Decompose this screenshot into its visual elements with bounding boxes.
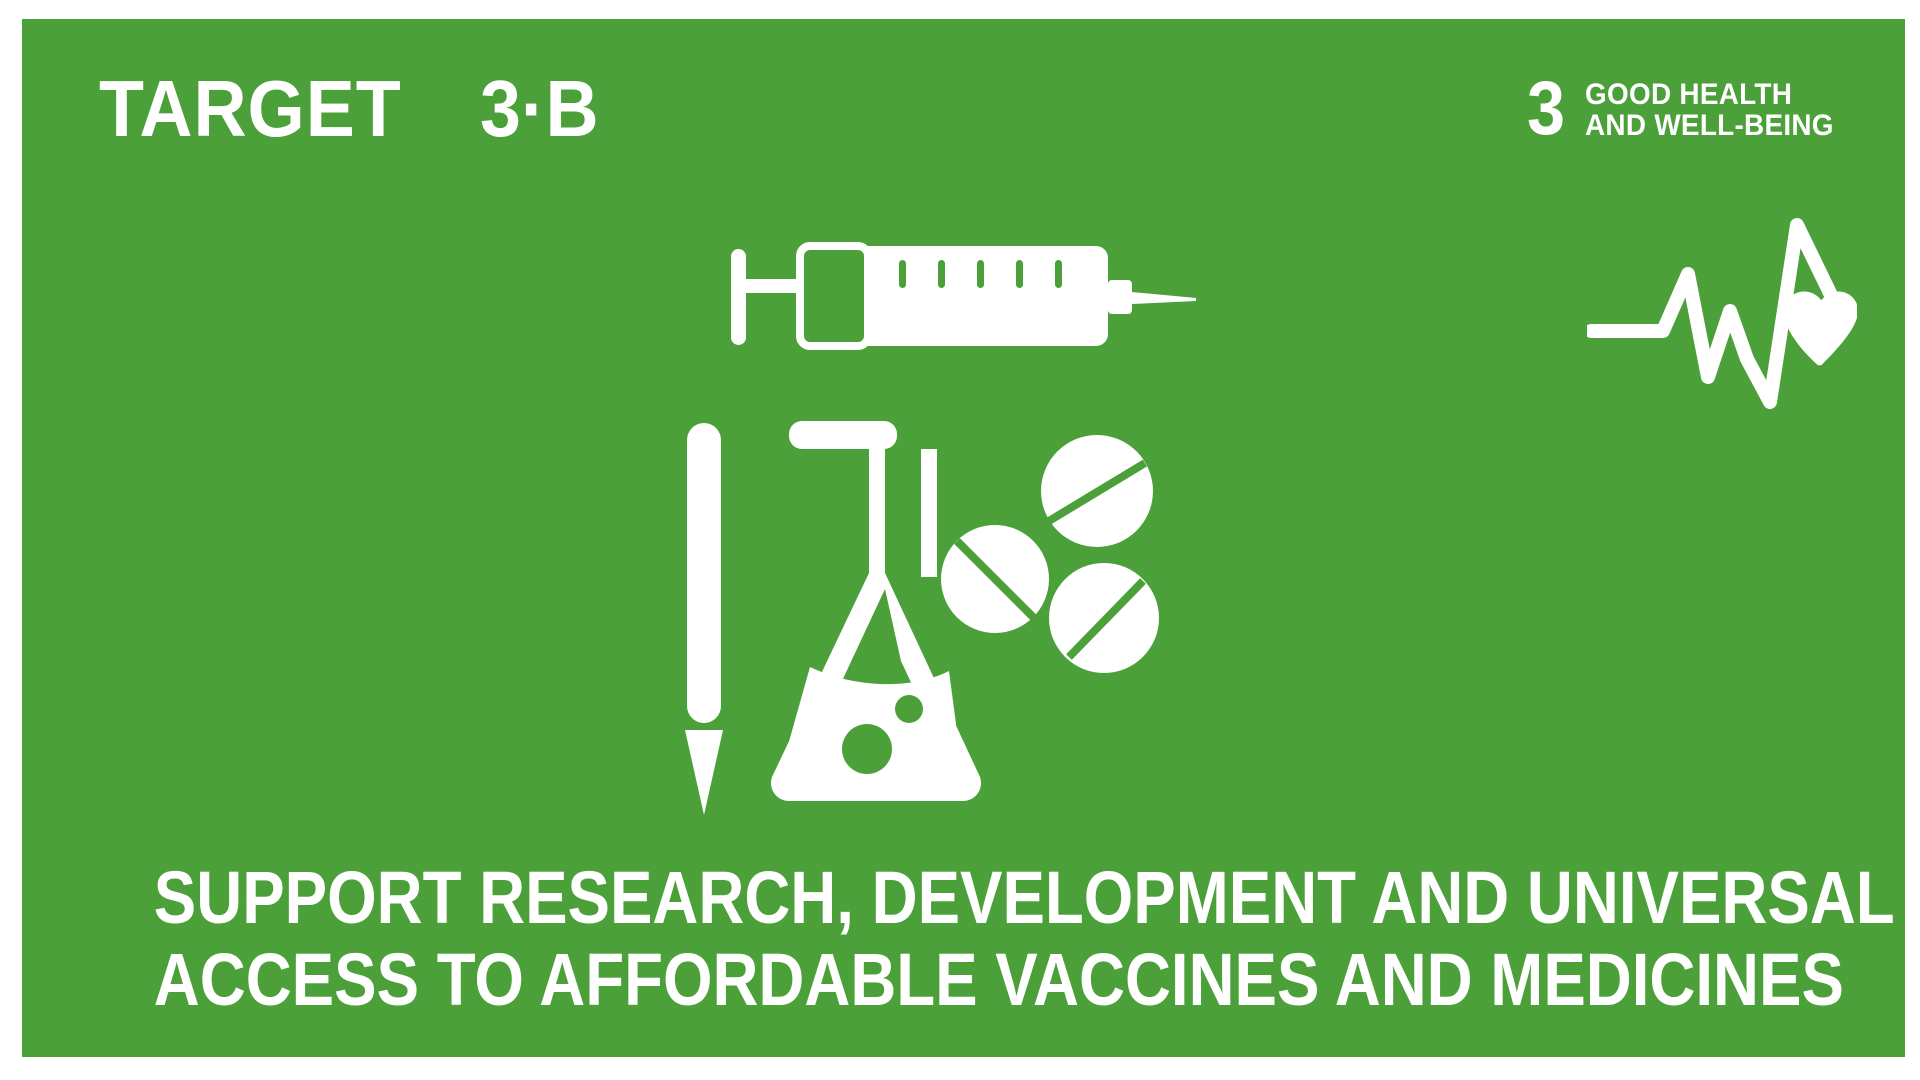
- goal-badge: 3 GOOD HEALTH AND WELL-BEING: [1527, 75, 1853, 143]
- goal-title-line-1: GOOD HEALTH: [1585, 79, 1834, 110]
- pencil-tip: [685, 730, 723, 815]
- syringe-needle: [1132, 292, 1196, 304]
- flask-bubble-small: [895, 695, 923, 723]
- syringe-plunger-head: [800, 246, 868, 346]
- syringe-nozzle: [1108, 280, 1132, 314]
- flask-rim: [789, 421, 897, 449]
- syringe-thumb-rest: [731, 249, 746, 345]
- caption-block: SUPPORT RESEARCH, DEVELOPMENT AND UNIVER…: [22, 857, 1905, 1021]
- lab-icon-group: [677, 419, 1297, 819]
- pill-2: [941, 525, 1049, 633]
- target-header: TARGET 3·B: [99, 69, 609, 149]
- pills-icon: [941, 435, 1159, 673]
- caption-line-1: SUPPORT RESEARCH, DEVELOPMENT AND UNIVER…: [154, 857, 1773, 939]
- syringe-graduation-4: [1016, 260, 1023, 288]
- syringe-graduation-3: [977, 260, 984, 288]
- pill-3: [1049, 563, 1159, 673]
- pencil-body: [687, 423, 721, 723]
- syringe-icon: [722, 232, 1202, 362]
- goal-title-line-2: AND WELL-BEING: [1585, 110, 1834, 141]
- sdg-target-card: TARGET 3·B 3 GOOD HEALTH AND WELL-BEING: [22, 19, 1905, 1057]
- illustration-group: [22, 214, 1905, 824]
- caption-line-2: ACCESS TO AFFORDABLE VACCINES AND MEDICI…: [154, 939, 1773, 1021]
- flask-bubble-large: [842, 724, 892, 774]
- goal-title: GOOD HEALTH AND WELL-BEING: [1585, 75, 1853, 141]
- pill-1: [1041, 435, 1153, 547]
- syringe-graduation-2: [938, 260, 945, 288]
- syringe-graduation-1: [899, 260, 906, 288]
- syringe-graduation-5: [1055, 260, 1062, 288]
- flask-neck-wall-right: [921, 449, 937, 577]
- target-number: 3·B: [480, 69, 599, 149]
- syringe-plunger-shaft: [731, 279, 803, 293]
- goal-number: 3: [1527, 75, 1565, 143]
- target-label: TARGET: [99, 69, 402, 149]
